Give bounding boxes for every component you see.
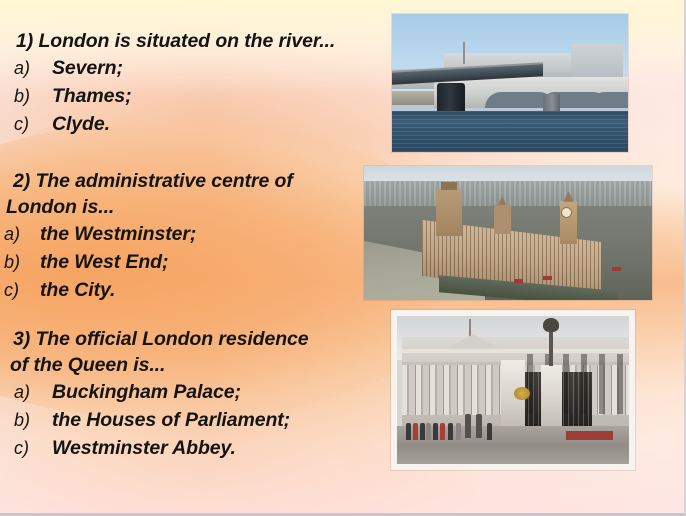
crowd-of-visitors (404, 417, 497, 441)
person (448, 423, 453, 440)
question-1-stem-text: London is situated on the river... (38, 30, 335, 52)
option-text: Severn; (52, 54, 123, 82)
questions-column: 1) London is situated on the river... a)… (0, 0, 395, 516)
question-block-1: 1) London is situated on the river... a)… (0, 28, 395, 138)
parliament-scene (364, 166, 652, 300)
option-letter: a) (14, 378, 52, 406)
question-2-option-a[interactable]: a) the Westminster; (0, 220, 395, 248)
question-2-number: 2) (13, 170, 30, 192)
gate-pillar-right (541, 365, 562, 435)
question-3-stem-text: The official London residence (35, 328, 308, 350)
option-text: Westminster Abbey. (52, 434, 236, 462)
option-letter: c) (14, 434, 52, 462)
red-bus (543, 276, 552, 280)
option-text: the City. (40, 276, 115, 304)
person (426, 423, 431, 440)
central-tower (494, 205, 511, 234)
person (476, 414, 482, 438)
person (433, 423, 438, 440)
thames-bridge-photo: Bridge over the River Thames in London (392, 14, 628, 152)
question-2-stem-line-2: London is... (0, 194, 395, 220)
question-2-stem-text: The administrative centre of (35, 170, 292, 192)
person (420, 423, 425, 440)
bridge-arch (589, 92, 628, 108)
option-text: the Houses of Parliament; (52, 406, 290, 434)
person (487, 423, 492, 440)
question-block-3: 3) The official London residence of the … (0, 326, 395, 462)
river-water (392, 111, 628, 152)
street-lamp-icon (549, 328, 553, 366)
red-bus (514, 279, 523, 283)
question-2-stem: 2) The administrative centre of (0, 168, 395, 194)
question-3-option-a[interactable]: a) Buckingham Palace; (0, 378, 395, 406)
option-letter: c) (14, 110, 52, 138)
option-letter: b) (14, 82, 52, 110)
question-2-option-b[interactable]: b) the West End; (0, 248, 395, 276)
question-2-option-c[interactable]: c) the City. (0, 276, 395, 304)
cornice-upper (402, 349, 629, 353)
mast (463, 42, 465, 64)
question-3-option-c[interactable]: c) Westminster Abbey. (0, 434, 395, 462)
option-letter: a) (14, 54, 52, 82)
option-letter: c) (4, 276, 40, 304)
red-matting (566, 431, 612, 440)
thames-bridge-scene (392, 14, 628, 152)
buckingham-palace-photo: Buckingham Palace front facade with gate… (391, 310, 635, 470)
person (465, 414, 471, 438)
big-ben-tower (560, 201, 577, 244)
quiz-slide: 1) London is situated on the river... a)… (0, 0, 686, 516)
question-3-option-b[interactable]: b) the Houses of Parliament; (0, 406, 395, 434)
question-1-option-c[interactable]: c) Clyde. (0, 110, 395, 138)
person (456, 423, 461, 440)
option-letter: b) (4, 248, 40, 276)
person (440, 423, 445, 440)
option-text: the West End; (40, 248, 168, 276)
clock-face-icon (562, 208, 571, 217)
pavement (397, 445, 629, 464)
victoria-tower (436, 189, 462, 236)
option-text: Clyde. (52, 110, 110, 138)
option-text: Buckingham Palace; (52, 378, 241, 406)
person (406, 423, 411, 440)
houses-of-parliament-photo: Aerial view of the Houses of Parliament … (364, 166, 652, 300)
option-text: Thames; (52, 82, 132, 110)
palace-scene (391, 310, 635, 470)
flagpole (469, 319, 471, 337)
question-1-option-b[interactable]: b) Thames; (0, 82, 395, 110)
question-3-stem: 3) The official London residence (0, 326, 395, 352)
option-letter: b) (14, 406, 52, 434)
question-1-stem: 1) London is situated on the river... (0, 28, 395, 54)
red-bus (612, 267, 621, 271)
question-3-stem-line-2: of the Queen is... (0, 352, 395, 378)
option-text: the Westminster; (40, 220, 196, 248)
person (413, 423, 418, 440)
question-block-2: 2) The administrative centre of London i… (0, 168, 395, 304)
option-letter: a) (4, 220, 40, 248)
question-1-option-a[interactable]: a) Severn; (0, 54, 395, 82)
question-1-number: 1) (16, 30, 33, 52)
question-3-number: 3) (13, 328, 30, 350)
